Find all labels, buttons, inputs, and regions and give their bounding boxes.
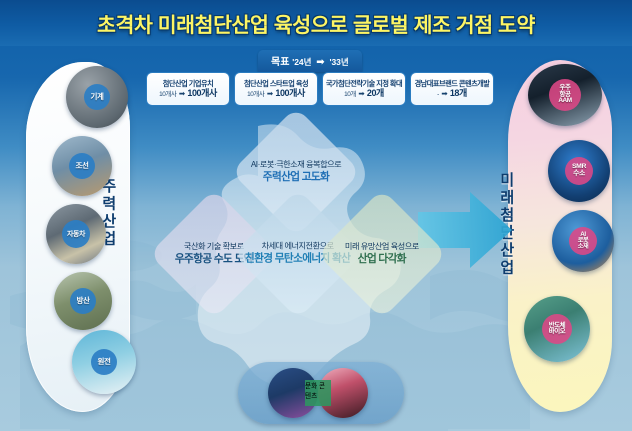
kpi-to: 20개	[367, 88, 384, 98]
kpi-card: 첨단산업 기업유치 10개사 ➡ 100개사	[146, 72, 230, 106]
kpi-card: 국가첨단전략기술 지정 확대 10개 ➡ 20개	[322, 72, 406, 106]
industry-label: 조선	[76, 162, 89, 170]
kpi-card: 경남대표브랜드 콘텐츠개발 - ➡ 18개	[410, 72, 494, 106]
kpi-from: 10개사	[159, 91, 176, 98]
strategy-subtitle: 미래 유망산업 육성으로	[345, 241, 419, 252]
strategy-title: 주력산업 고도화	[251, 170, 341, 185]
industry-circle-기계: 기계	[66, 66, 128, 128]
industry-badge: 우주 항공 AAM	[549, 79, 581, 111]
strategy-text: 미래 유망산업 육성으로 산업 다각화	[345, 241, 419, 267]
goal-label: 목표	[271, 57, 289, 68]
kpi-arrow-icon: ➡	[441, 89, 447, 98]
industry-label: 바이오	[549, 329, 565, 335]
industry-badge: 원전	[91, 349, 117, 375]
kpi-title: 경남대표브랜드 콘텐츠개발	[415, 79, 490, 88]
kpi-value: 10개사 ➡ 100개사	[247, 88, 305, 100]
strategy-subtitle: AI·로봇·극한소재 융복합으로	[251, 159, 341, 170]
industry-badge: 조선	[69, 153, 95, 179]
kpi-from: 10개사	[247, 91, 264, 98]
industry-circle-원전: 원전	[72, 330, 136, 394]
kpi-value: - ➡ 18개	[437, 88, 467, 100]
industry-badge: 기계	[84, 84, 110, 110]
industry-label: 원전	[98, 358, 111, 366]
infographic-root: 초격차 미래첨단산업 육성으로 글로벌 제조 거점 도약 목표 '24년 ➡ '…	[0, 0, 632, 431]
industry-circle-반도체바이오: 반도체 바이오	[524, 296, 590, 362]
page-title: 초격차 미래첨단산업 육성으로 글로벌 제조 거점 도약	[0, 8, 632, 38]
industry-label: 자동차	[67, 231, 85, 238]
strategy-text: AI·로봇·극한소재 융복합으로 주력산업 고도화	[251, 159, 341, 185]
kpi-title: 첨단산업 기업유치	[163, 79, 213, 88]
industry-badge: AI 로봇 소재	[569, 227, 597, 255]
industry-label: 수소	[573, 171, 585, 178]
kpi-arrow-icon: ➡	[267, 89, 273, 98]
goal-banner: 목표 '24년 ➡ '33년	[258, 50, 362, 72]
kpi-to: 100개사	[187, 88, 217, 98]
industry-badge: SMR 수소	[565, 157, 593, 185]
goal-to-year: '33년	[329, 57, 348, 67]
goal-arrow-icon: ➡	[316, 57, 324, 68]
industry-badge: 자동차	[62, 220, 90, 248]
strategy-title: 산업 다각화	[345, 252, 419, 267]
industry-label: 소재	[578, 244, 589, 250]
kpi-card: 첨단산업 스타트업 육성 10개사 ➡ 100개사	[234, 72, 318, 106]
goal-from-year: '24년	[292, 57, 311, 67]
culture-badge-line1: 문화	[305, 383, 317, 390]
kpi-to: 100개사	[275, 88, 305, 98]
industry-label: AAM	[558, 98, 571, 104]
culture-content-badge: 문화 콘텐츠	[305, 380, 331, 406]
kpi-title: 국가첨단전략기술 지정 확대	[326, 79, 402, 88]
kpi-arrow-icon: ➡	[179, 89, 185, 98]
kpi-from: 10개	[344, 91, 356, 98]
industry-circle-smr수소: SMR 수소	[548, 140, 610, 202]
industry-circle-조선: 조선	[52, 136, 112, 196]
industry-label: 기계	[91, 93, 104, 101]
kpi-from: -	[437, 91, 439, 98]
industry-circle-우주항공aam: 우주 항공 AAM	[528, 64, 602, 126]
industry-badge: 방산	[70, 288, 96, 314]
industry-label: 방산	[77, 297, 90, 305]
industry-circle-ai로봇소재: AI 로봇 소재	[552, 210, 614, 272]
industry-badge: 반도체 바이오	[542, 314, 572, 344]
kpi-arrow-icon: ➡	[358, 89, 364, 98]
kpi-row: 첨단산업 기업유치 10개사 ➡ 100개사 첨단산업 스타트업 육성 10개사…	[146, 72, 494, 106]
kpi-value: 10개사 ➡ 100개사	[159, 88, 217, 100]
kpi-title: 첨단산업 스타트업 육성	[244, 79, 308, 88]
kpi-value: 10개 ➡ 20개	[344, 88, 384, 100]
industry-circle-자동차: 자동차	[46, 204, 106, 264]
industry-circle-방산: 방산	[54, 272, 112, 330]
kpi-to: 18개	[450, 88, 467, 98]
